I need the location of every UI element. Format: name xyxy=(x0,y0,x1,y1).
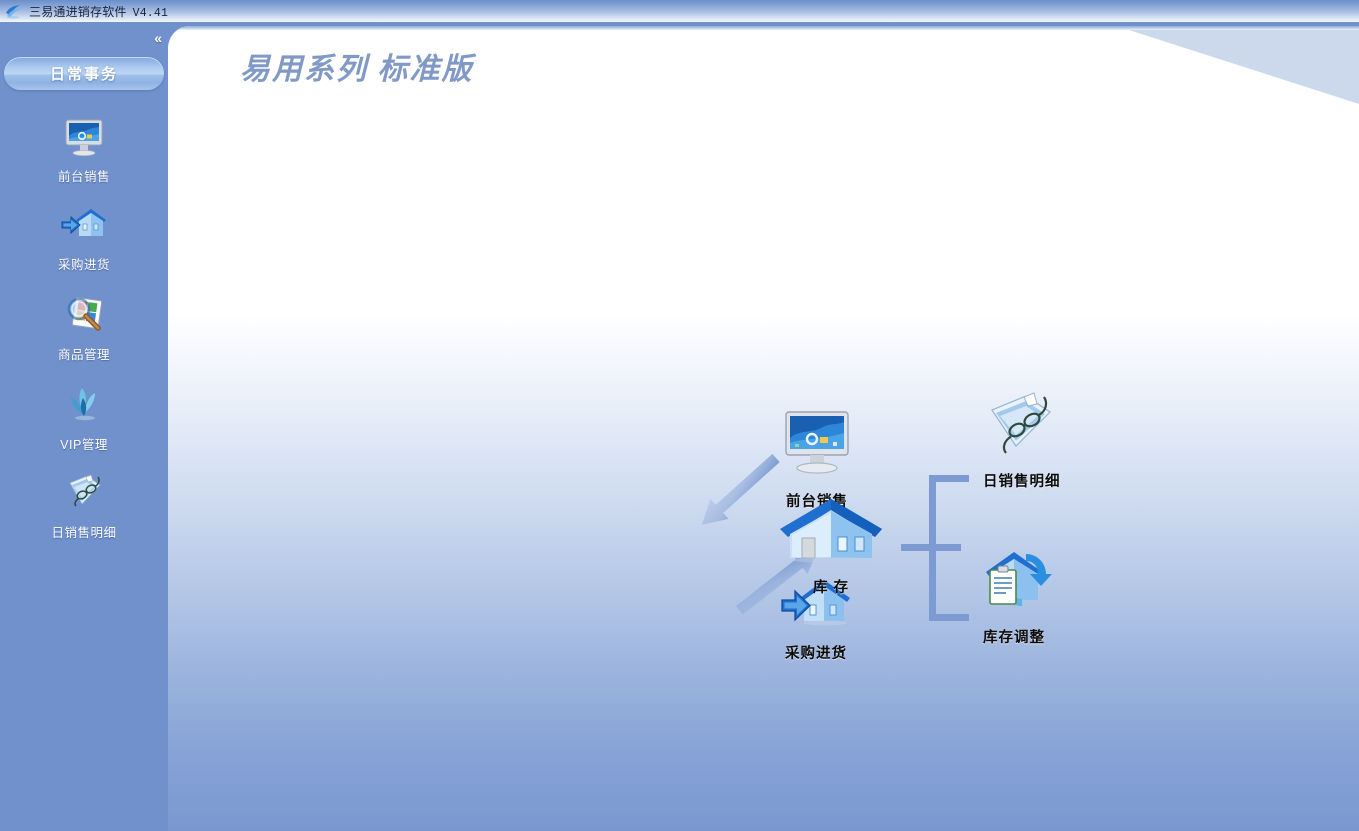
diagram-node-adjust[interactable]: 库存调整 xyxy=(976,544,1052,647)
diagram-connectors xyxy=(168,26,1359,831)
diagram-node-daily-report[interactable]: 日销售明细 xyxy=(983,388,1061,491)
title-bar: 三易通进销存软件V4.41 xyxy=(0,0,1359,22)
house-adjust-icon xyxy=(976,544,1052,621)
sidebar-collapse-icon[interactable]: « xyxy=(154,31,160,45)
sidebar-group-header-label: 日常事务 xyxy=(50,63,118,84)
window-title-text: 三易通进销存软件 xyxy=(29,5,127,19)
app-wave-icon xyxy=(5,3,22,19)
diagram-node-label: 库 存 xyxy=(813,576,849,597)
window-title: 三易通进销存软件V4.41 xyxy=(29,3,168,20)
book-glasses-icon xyxy=(984,388,1060,465)
diagram-node-stock[interactable]: 库 存 xyxy=(776,496,886,597)
bracket-connector xyxy=(901,475,969,621)
sidebar-item-label: 日销售明细 xyxy=(51,522,116,541)
sidebar-item-label: VIP管理 xyxy=(60,434,108,453)
monitor-icon xyxy=(778,408,856,485)
diagram-node-label: 采购进货 xyxy=(785,642,847,663)
sidebar-item-daily-report[interactable]: 日销售明细 xyxy=(0,468,168,541)
sidebar-item-pos[interactable]: 前台销售 xyxy=(0,112,168,185)
house-icon xyxy=(776,496,886,571)
arrow-stock-to-pos xyxy=(693,448,785,535)
sidebar-item-goods[interactable]: 商品管理 xyxy=(0,290,168,363)
vip-flower-icon xyxy=(60,380,108,428)
sidebar-item-vip[interactable]: VIP管理 xyxy=(0,380,168,453)
sidebar-group-header[interactable]: 日常事务 xyxy=(4,57,164,90)
app-window: 三易通进销存软件V4.41 « 日常事务 前台销售 xyxy=(0,0,1359,831)
house-inbound-icon xyxy=(60,200,108,248)
sidebar: « 日常事务 前台销售 xyxy=(0,22,168,831)
sidebar-item-label: 商品管理 xyxy=(58,344,110,363)
sidebar-item-purchase[interactable]: 采购进货 xyxy=(0,200,168,273)
diagram-node-label: 日销售明细 xyxy=(983,470,1061,491)
sidebar-item-label: 采购进货 xyxy=(58,254,110,273)
diagram-node-label: 库存调整 xyxy=(983,626,1045,647)
window-version: V4.41 xyxy=(133,7,169,20)
book-glasses-icon xyxy=(60,468,108,516)
magnifier-goods-icon xyxy=(60,290,108,338)
sidebar-item-label: 前台销售 xyxy=(58,166,110,185)
monitor-icon xyxy=(60,112,108,160)
workflow-diagram: 前台销售 采购进货 xyxy=(168,26,1359,831)
main-panel: 易用系列 标准版 xyxy=(168,26,1359,831)
